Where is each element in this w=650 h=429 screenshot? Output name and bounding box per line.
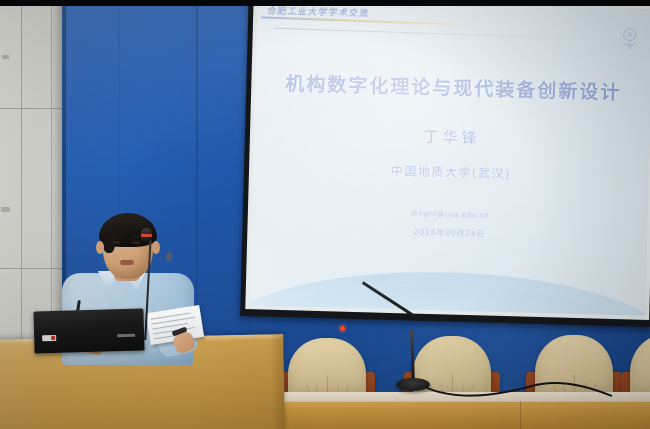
slide-affiliation: 中国地质大学(武汉): [253, 158, 649, 186]
slide-email: dinghf@cug.edu.cn: [252, 205, 648, 224]
gray-divider-line: [275, 28, 605, 40]
slide-date: 2016年09月24日: [251, 222, 647, 244]
gold-divider-line: [261, 16, 476, 26]
university-emblem-icon: [618, 26, 641, 51]
projection-screen: 合肥工业大学学术交流 机构数字化理论与现代装备创新设计 丁华锋 中国地质大学(武…: [240, 0, 650, 327]
microphone-indicator-led: [340, 326, 345, 331]
ceiling-edge: [0, 0, 650, 6]
slide-title: 机构数字化理论与现代装备创新设计: [255, 68, 650, 106]
laptop-logo-icon: [42, 335, 56, 341]
microphone-red-band: [141, 234, 152, 237]
presentation-slide: 合肥工业大学学术交流 机构数字化理论与现代装备创新设计 丁华锋 中国地质大学(武…: [249, 0, 650, 316]
thinkpad-laptop: [33, 308, 144, 353]
slide-speaker-name: 丁华锋: [254, 121, 650, 153]
slide-body: 机构数字化理论与现代装备创新设计 丁华锋 中国地质大学(武汉) dinghf@c…: [251, 68, 650, 244]
lecture-hall-photo: 合肥工业大学学术交流 机构数字化理论与现代装备创新设计 丁华锋 中国地质大学(武…: [0, 0, 650, 429]
